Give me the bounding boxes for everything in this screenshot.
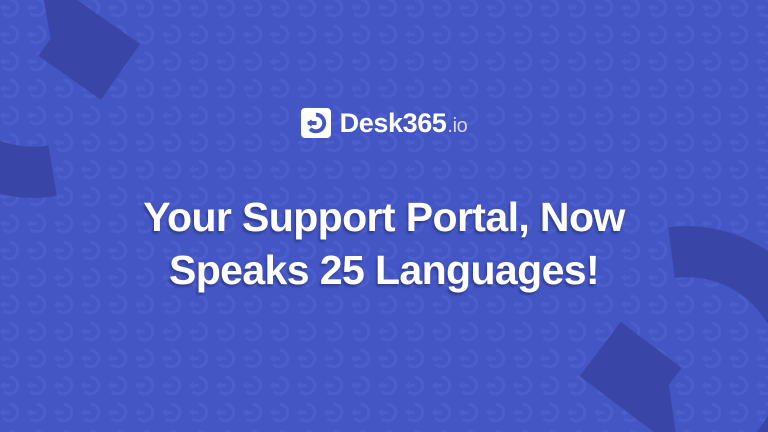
headline-line-1: Your Support Portal, Now	[143, 191, 624, 243]
brand-name: Desk365	[340, 110, 447, 137]
brand-tld: .io	[447, 116, 467, 136]
brand-lockup: Desk365 .io	[301, 108, 468, 138]
brand-wordmark: Desk365 .io	[340, 110, 468, 137]
page-title: Your Support Portal, Now Speaks 25 Langu…	[143, 191, 624, 296]
banner-content: Desk365 .io Your Support Portal, Now Spe…	[0, 0, 768, 432]
desk365-logo-icon	[301, 108, 331, 138]
desk365-mark-glyph-icon	[301, 108, 331, 138]
promo-banner: Desk365 .io Your Support Portal, Now Spe…	[0, 0, 768, 432]
headline-line-2: Speaks 25 Languages!	[143, 244, 624, 296]
